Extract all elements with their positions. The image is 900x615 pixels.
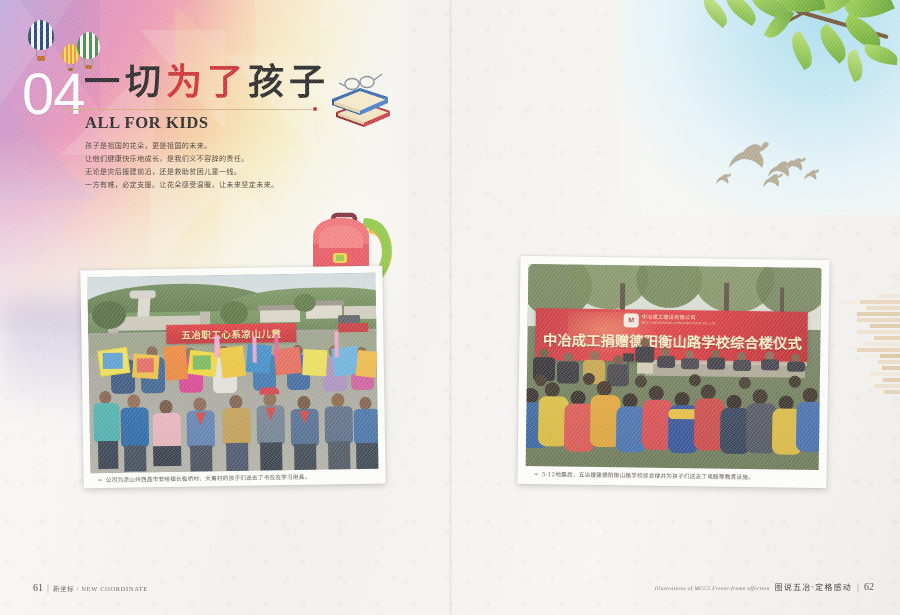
page-title-en: ALL FOR KIDS — [85, 113, 209, 133]
footer-right-divider: | — [857, 582, 859, 593]
title-cn-part2: 为了 — [166, 61, 248, 103]
intro-line-4: 一方有难，必定支援。让花朵感受温暖，让未来坚定未来。 — [85, 178, 315, 191]
footer-left-label: 新坐标 / NEW COORDINATE — [53, 584, 148, 593]
caption-mark-right: ❧ — [534, 471, 539, 478]
intro-paragraph: 孩子是祖国的花朵，更是祖国的未来。 让他们健康快乐地成长，是我们义不容辞的责任。… — [85, 139, 315, 191]
intro-line-3: 无论是灾后援建前沿，还是救助贫困儿童一线。 — [85, 165, 315, 178]
beige-stripes-decor-icon — [845, 292, 900, 400]
title-cn-part1: 一切 — [84, 61, 166, 103]
caption-mark-left: ❧ — [98, 477, 103, 484]
intro-line-2: 让他们健康快乐地成长，是我们义不容辞的责任。 — [85, 152, 315, 165]
title-rule — [62, 109, 312, 110]
flying-birds-icon — [705, 130, 825, 200]
footer-right-page-number: 62 — [864, 582, 874, 593]
footer-left-page-number: 61 — [33, 583, 43, 594]
photo-card-left[interactable]: 五冶职工心系凉山儿童 — [80, 266, 385, 489]
photo-card-right[interactable]: M 中冶成工建设有限公司 MCC CHENGGONG CONSTRUCTION … — [517, 256, 829, 488]
green-leaves-branch-icon — [650, 0, 900, 90]
footer-left-divider: | — [47, 583, 49, 594]
birds-svg — [705, 130, 825, 200]
footer-right-en: Illustrations of MCC5 Freeze-frame affec… — [655, 586, 770, 592]
photo-image-deyang: M 中冶成工建设有限公司 MCC CHENGGONG CONSTRUCTION … — [526, 264, 822, 470]
page-title-cn: 一切为了孩子 — [84, 64, 330, 100]
footer-left: 61 | 新坐标 / NEW COORDINATE — [33, 583, 148, 594]
books-svg — [320, 70, 398, 132]
title-cn-part3: 孩子 — [248, 61, 330, 103]
footer-right: Illustrations of MCC5 Freeze-frame affec… — [655, 582, 874, 593]
stacked-books-with-glasses-icon — [320, 70, 390, 130]
photo-image-liangshan: 五冶职工心系凉山儿童 — [87, 273, 378, 473]
balloon-navy-white — [28, 20, 58, 64]
page-gutter — [449, 0, 452, 615]
title-rule-dot — [313, 107, 317, 111]
intro-line-1: 孩子是祖国的花朵，更是祖国的未来。 — [85, 139, 315, 152]
footer-right-cn: 图说五冶·定格感动 — [775, 582, 852, 593]
section-number: 04 — [22, 66, 85, 124]
magazine-spread: 04 一切为了孩子 ALL FOR KIDS 孩子是祖国的花朵，更是祖国的未来。… — [0, 0, 900, 615]
